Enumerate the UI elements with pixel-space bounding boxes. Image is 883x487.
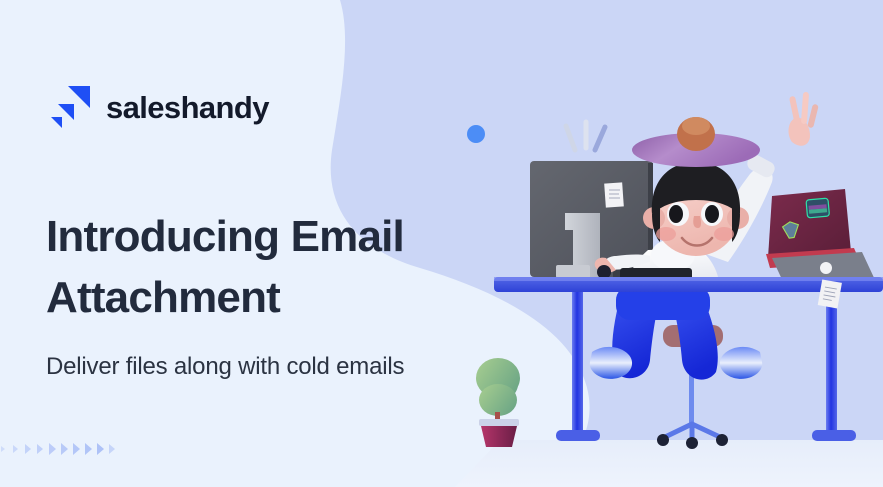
- laptop: [766, 189, 876, 288]
- sticky-note-icon: [604, 182, 624, 207]
- monitor-base: [556, 265, 590, 278]
- floor: [455, 440, 883, 487]
- page-subtitle: Deliver files along with cold emails: [46, 351, 516, 382]
- page-title: Introducing Email Attachment: [46, 207, 506, 328]
- mouse-icon: [597, 265, 611, 279]
- excitement-lines-icon: [566, 122, 605, 150]
- page-title-line-2: Attachment: [46, 273, 280, 322]
- brand-wordmark: saleshandy: [106, 92, 269, 123]
- decorative-triangle-strip: [0, 438, 130, 460]
- brand-logo[interactable]: saleshandy: [46, 84, 269, 130]
- sneaker-right: [720, 347, 762, 379]
- saleshandy-chevron-mark-icon: [46, 84, 92, 130]
- accent-dot-icon: [467, 125, 485, 143]
- page-title-line-1: Introducing Email: [46, 212, 404, 261]
- hero-banner: saleshandy Introducing Email Attachment …: [0, 0, 883, 487]
